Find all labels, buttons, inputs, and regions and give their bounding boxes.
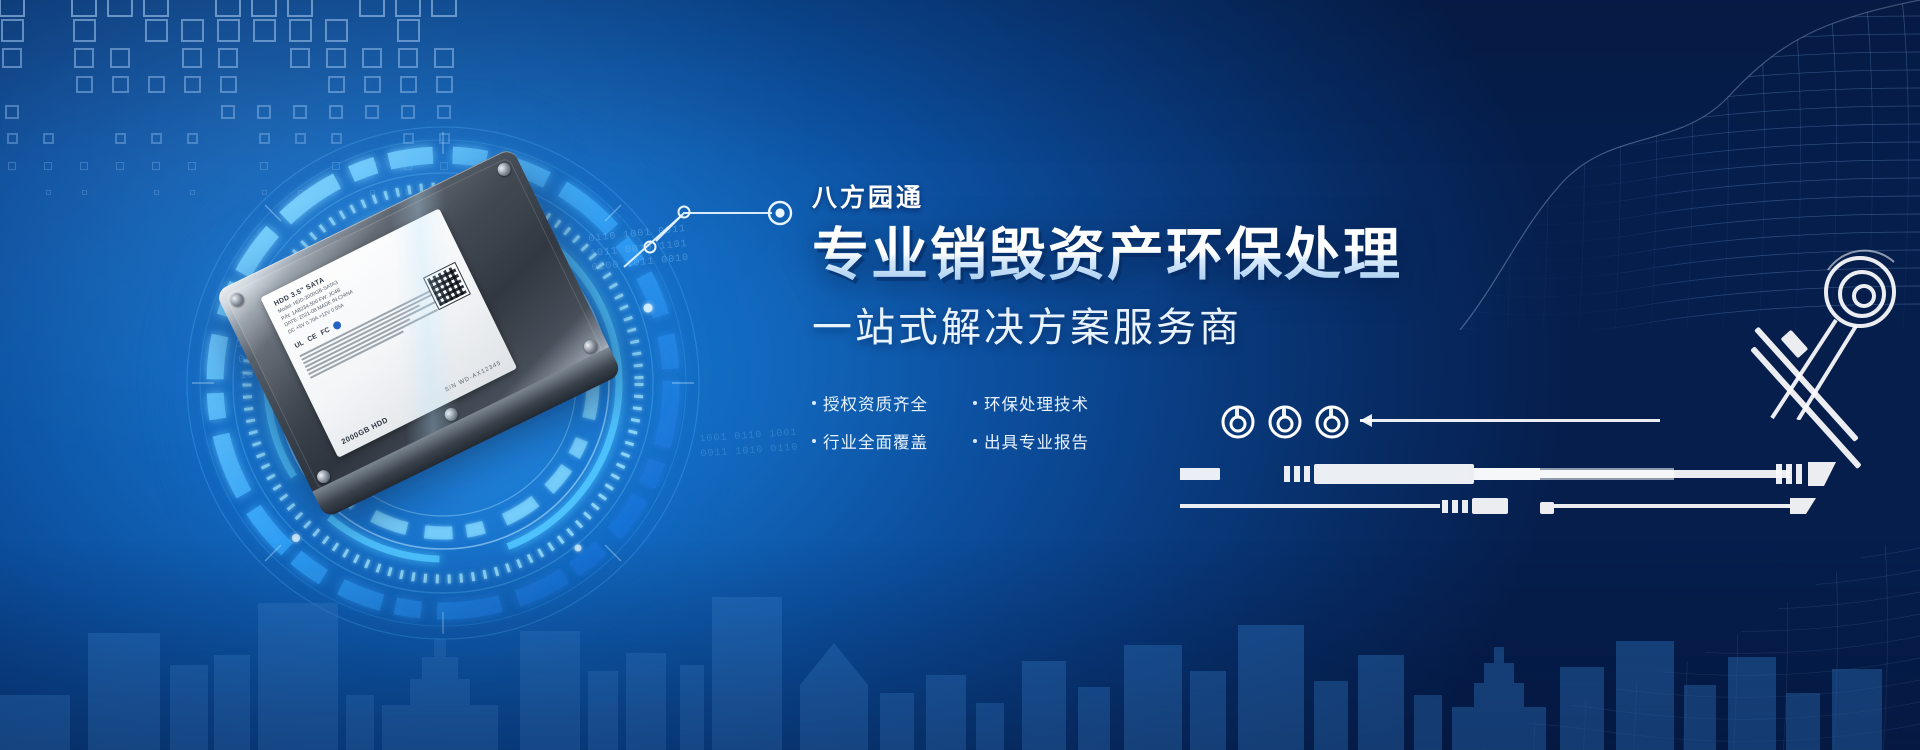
pixel-square <box>253 19 276 42</box>
pixel-square <box>8 162 16 170</box>
pixel-square <box>43 133 54 144</box>
binary-text-decoration-2: 0110 1001 0011 1011 0010 1101 0100 1011 … <box>588 223 690 277</box>
pixel-square <box>154 190 159 195</box>
pixel-square <box>46 190 51 195</box>
pixel-square <box>217 19 240 42</box>
feature-list: 授权资质齐全 环保处理技术 行业全面覆盖 出具专业报告 <box>812 391 1112 453</box>
pixel-square <box>437 105 451 119</box>
pixel-square <box>332 162 340 170</box>
pixel-square <box>257 105 271 119</box>
pixel-square <box>190 190 195 195</box>
pixel-square <box>359 0 385 17</box>
pixel-square <box>260 162 268 170</box>
bullet-dot-icon <box>973 439 977 443</box>
pixel-square <box>107 0 133 17</box>
pixel-square <box>365 105 379 119</box>
pixel-square <box>115 133 126 144</box>
pixel-square <box>325 19 348 42</box>
pixel-square <box>400 76 417 93</box>
pixel-square <box>403 133 414 144</box>
pixel-square <box>218 48 238 68</box>
pixel-square <box>289 19 312 42</box>
pixel-square <box>439 133 450 144</box>
pixel-square <box>440 162 448 170</box>
bullet-dot-icon <box>812 401 816 405</box>
hdd-label-capacity: 2000GB HDD <box>340 415 390 446</box>
headline: 专业销毁资产环保处理 <box>812 224 1642 287</box>
pixel-grid-decoration <box>0 0 454 205</box>
feature-label: 行业全面覆盖 <box>823 429 928 453</box>
pixel-square <box>434 48 454 68</box>
pixel-square <box>290 48 310 68</box>
pixel-square <box>259 133 270 144</box>
pixel-square <box>404 162 412 170</box>
pixel-square <box>331 133 342 144</box>
connector-node-icon <box>645 242 656 253</box>
pixel-square <box>215 0 241 17</box>
feature-item-2: 环保处理技术 <box>973 391 1112 415</box>
connector-target-center-icon <box>775 208 784 217</box>
pixel-square <box>80 162 88 170</box>
subheadline: 一站式解决方案服务商 <box>812 295 1642 353</box>
pixel-square <box>406 190 411 195</box>
pixel-square <box>397 19 420 42</box>
feature-label: 授权资质齐全 <box>823 391 928 415</box>
pixel-square <box>5 105 19 119</box>
pixel-square <box>152 162 160 170</box>
pixel-square <box>262 190 267 195</box>
pixel-square <box>1 19 24 42</box>
pixel-square <box>73 19 96 42</box>
pixel-square <box>110 48 130 68</box>
pixel-square <box>329 105 343 119</box>
pixel-square <box>326 48 346 68</box>
pixel-square <box>287 0 313 17</box>
banner-copy: 八方园通 专业销毁资产环保处理 一站式解决方案服务商 授权资质齐全 环保处理技术… <box>812 178 1642 453</box>
pixel-square <box>181 19 204 42</box>
city-skyline-decoration <box>0 545 1920 750</box>
pixel-square <box>2 48 22 68</box>
pixel-square <box>182 48 202 68</box>
pixel-square <box>295 133 306 144</box>
pixel-square <box>7 133 18 144</box>
pixel-square <box>116 162 124 170</box>
pixel-square <box>401 105 415 119</box>
pixel-square <box>71 0 97 17</box>
pixel-square <box>76 76 93 93</box>
pixel-square <box>151 133 162 144</box>
pixel-square <box>145 19 168 42</box>
pixel-square <box>112 76 129 93</box>
pixel-square <box>44 162 52 170</box>
pixel-square <box>298 190 303 195</box>
pixel-square <box>431 0 457 17</box>
hdd-screw-icon <box>495 161 512 178</box>
ce-mark-icon: CE <box>306 333 318 344</box>
pixel-square <box>184 76 201 93</box>
pixel-square <box>74 48 94 68</box>
brand-name: 八方园通 <box>812 178 1642 214</box>
pixel-square <box>368 162 376 170</box>
pixel-square <box>370 190 375 195</box>
hdd-product-image: HDD 3.5" SATA Model: HDD-2000GB-SATA3 P/… <box>215 147 639 552</box>
mesh-wave-decoration-bottom <box>1300 490 1920 750</box>
connector-node-icon <box>679 207 690 218</box>
pixel-square <box>82 190 87 195</box>
pixel-square <box>362 48 382 68</box>
binary-text-decoration-3: 1001 0110 1001 0011 1010 0110 <box>699 427 799 463</box>
feature-label: 出具专业报告 <box>984 429 1089 453</box>
pixel-square <box>187 133 198 144</box>
pixel-square <box>220 76 237 93</box>
feature-item-1: 授权资质齐全 <box>812 391 951 415</box>
pixel-square <box>328 76 345 93</box>
pixel-square <box>188 162 196 170</box>
feature-label: 环保处理技术 <box>984 391 1089 415</box>
pixel-square <box>221 105 235 119</box>
hdd-label-serial: S/N WD-AX12345 <box>444 360 502 393</box>
pixel-square <box>251 0 277 17</box>
circuit-connector-right-decoration <box>1710 240 1920 420</box>
pixel-square <box>395 0 421 17</box>
feature-item-4: 出具专业报告 <box>973 429 1112 453</box>
pixel-square <box>143 0 169 17</box>
ul-mark-icon: UL <box>294 339 305 349</box>
pixel-square <box>293 105 307 119</box>
bullet-dot-icon <box>973 401 977 405</box>
blue-dot-icon <box>332 320 343 331</box>
bullet-dot-icon <box>812 439 816 443</box>
pixel-square <box>364 76 381 93</box>
connector-target-icon <box>769 202 791 224</box>
pixel-square <box>436 76 453 93</box>
feature-item-3: 行业全面覆盖 <box>812 429 951 453</box>
fcc-mark-icon: FC <box>320 326 331 336</box>
pixel-square <box>398 48 418 68</box>
pixel-square <box>0 0 25 17</box>
hdd-screw-icon <box>229 291 246 308</box>
promo-banner: 1001 0110 1001 0011 0110 1001 0011 1010 … <box>0 0 1920 750</box>
pixel-square <box>148 76 165 93</box>
